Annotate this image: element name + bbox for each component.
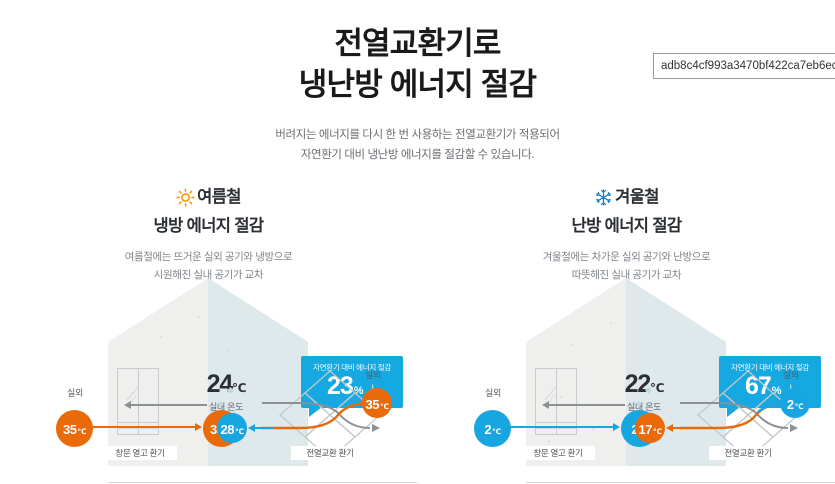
summer-erv-outdoor-label: 실외 bbox=[365, 368, 381, 381]
summer-supply-arrow-icon bbox=[248, 424, 255, 432]
winter-exhaust-arrow-icon bbox=[542, 401, 549, 409]
winter-supply-temp-circle: 17 ℃ bbox=[635, 413, 665, 443]
summer-exhaust-arrow-icon bbox=[124, 401, 131, 409]
winter-outdoor-temp-circle: 2 ℃ bbox=[474, 410, 511, 447]
summer-diagram: 자연환기 대비 에너지 절감 23 % ↓ 24℃ 실내 온도 bbox=[0, 260, 417, 484]
summer-intake-temp-value: 35 bbox=[365, 398, 378, 411]
hash-field-value: adb8c4cf993a3470bf422ca7eb6ecd bbox=[661, 60, 835, 72]
winter-outdoor-temp-value: 2 bbox=[484, 423, 491, 436]
summer-outdoor-temp-unit: ℃ bbox=[77, 428, 86, 436]
winter-outdoor-temp-unit: ℃ bbox=[492, 428, 501, 436]
winter-indoor-temperature: 22℃ 실내 온도 bbox=[604, 372, 684, 413]
panel-summer-season: 여름철 bbox=[197, 186, 241, 210]
summer-intake-temp-circle: 35 ℃ bbox=[362, 388, 392, 418]
page-subtitle-line2: 자연환기 대비 냉난방 에너지를 절감할 수 있습니다. bbox=[0, 145, 835, 165]
summer-window-caption: 창문 열고 환기 bbox=[103, 446, 177, 460]
summer-intake-line bbox=[88, 426, 196, 428]
summer-supply-temp-circle: 28 ℃ bbox=[217, 413, 247, 443]
page-root: 전열교환기로 냉난방 에너지 절감 버려지는 에너지를 다시 한 번 사용하는 … bbox=[0, 0, 835, 484]
summer-badge-label: 자연환기 대비 에너지 절감 bbox=[301, 362, 403, 373]
winter-divider bbox=[526, 482, 835, 483]
panel-summer-subtitle: 냉방 에너지 절감 bbox=[0, 215, 417, 239]
summer-indoor-temp-unit: ℃ bbox=[232, 381, 245, 395]
winter-indoor-temp-value: 22 bbox=[625, 370, 650, 398]
panel-summer-title: 여름철 냉방 에너지 절감 bbox=[0, 186, 417, 239]
winter-diagram: 자연환기 대비 에너지 절감 67 % ↓ 22℃ 실내 온도 bbox=[418, 260, 835, 484]
panel-summer: 여름철 냉방 에너지 절감 여름절에는 뜨거운 실외 공기와 냉방으로 시원해진… bbox=[0, 186, 417, 484]
sun-icon bbox=[176, 188, 195, 207]
summer-badge-unit: % bbox=[354, 385, 364, 397]
panel-winter-title: 겨울철 난방 에너지 절감 bbox=[418, 186, 835, 239]
winter-window-outdoor-label: 실외 bbox=[485, 386, 501, 399]
winter-badge-label: 자연환기 대비 에너지 절감 bbox=[719, 362, 821, 373]
winter-supply-temp-value: 17 bbox=[638, 423, 651, 436]
snowflake-icon bbox=[594, 188, 613, 207]
hash-field[interactable]: adb8c4cf993a3470bf422ca7eb6ecd bbox=[653, 53, 835, 79]
winter-badge-value: 67 bbox=[745, 374, 771, 399]
page-subtitle-line1: 버려지는 에너지를 다시 한 번 사용하는 전열교환기가 적용되어 bbox=[0, 125, 835, 145]
summer-divider bbox=[108, 482, 417, 483]
summer-supply-temp-value: 28 bbox=[220, 423, 233, 436]
summer-outdoor-temp-circle: 35 ℃ bbox=[56, 410, 93, 447]
winter-indoor-temp-unit: ℃ bbox=[650, 381, 663, 395]
winter-erv-outdoor-label: 실외 bbox=[783, 368, 799, 381]
summer-erv-caption: 전열교환 환기 bbox=[291, 446, 369, 460]
winter-supply-temp-unit: ℃ bbox=[653, 428, 662, 436]
winter-intake-temp-unit: ℃ bbox=[795, 403, 804, 411]
winter-intake-temp-circle: 2 ℃ bbox=[780, 388, 810, 418]
panel-winter-season: 겨울철 bbox=[615, 186, 659, 210]
summer-indoor-temperature: 24℃ 실내 온도 bbox=[186, 372, 266, 413]
winter-window-caption: 창문 열고 환기 bbox=[521, 446, 595, 460]
summer-window-outdoor-label: 실외 bbox=[67, 386, 83, 399]
summer-indoor-temp-value: 24 bbox=[207, 370, 232, 398]
summer-badge-value: 23 bbox=[327, 374, 353, 399]
summer-intake-arrow-icon bbox=[195, 423, 202, 431]
winter-badge-unit: % bbox=[772, 385, 782, 397]
summer-exhaust-line bbox=[130, 404, 207, 406]
summer-intake-temp-unit: ℃ bbox=[380, 403, 389, 411]
winter-supply-arrow-icon bbox=[666, 424, 673, 432]
winter-intake-temp-value: 2 bbox=[787, 398, 794, 411]
panel-winter: 겨울철 난방 에너지 절감 겨울철에는 차가운 실외 공기와 난방으로 따뜻해진… bbox=[418, 186, 835, 484]
summer-supply-line bbox=[255, 427, 273, 429]
winter-supply-line bbox=[673, 427, 691, 429]
winter-intake-arrow-icon bbox=[613, 423, 620, 431]
page-subtitle: 버려지는 에너지를 다시 한 번 사용하는 전열교환기가 적용되어 자연환기 대… bbox=[0, 125, 835, 166]
summer-outdoor-temp-value: 35 bbox=[63, 423, 76, 436]
winter-erv-caption: 전열교환 환기 bbox=[709, 446, 787, 460]
winter-exhaust-line bbox=[548, 404, 625, 406]
panel-winter-subtitle: 난방 에너지 절감 bbox=[418, 215, 835, 239]
summer-supply-temp-unit: ℃ bbox=[235, 428, 244, 436]
winter-intake-line bbox=[506, 426, 614, 428]
